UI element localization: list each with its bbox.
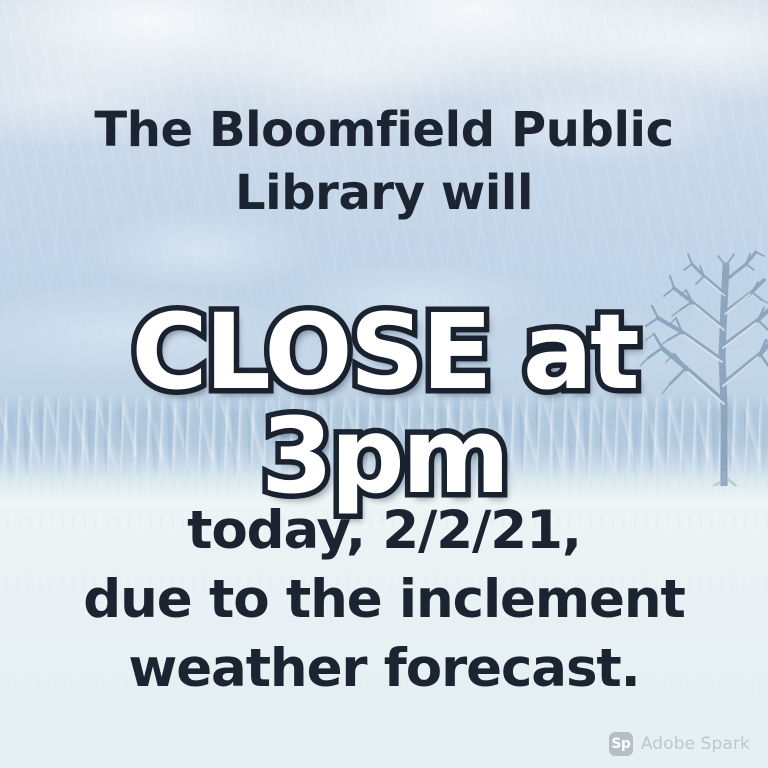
body-text: today, 2/2/21, due to the inclement weat…	[0, 497, 768, 704]
adobe-spark-logo-icon: Sp	[609, 732, 633, 756]
adobe-spark-watermark[interactable]: Sp Adobe Spark	[609, 732, 750, 756]
poster-text-layer: The Bloomfield Public Library will CLOSE…	[0, 0, 768, 768]
adobe-spark-brand-label: Adobe Spark	[641, 734, 750, 754]
poster-canvas: The Bloomfield Public Library will CLOSE…	[0, 0, 768, 768]
headline-text: The Bloomfield Public Library will	[0, 99, 768, 226]
emphasis-text: CLOSE at 3pm	[0, 300, 768, 508]
